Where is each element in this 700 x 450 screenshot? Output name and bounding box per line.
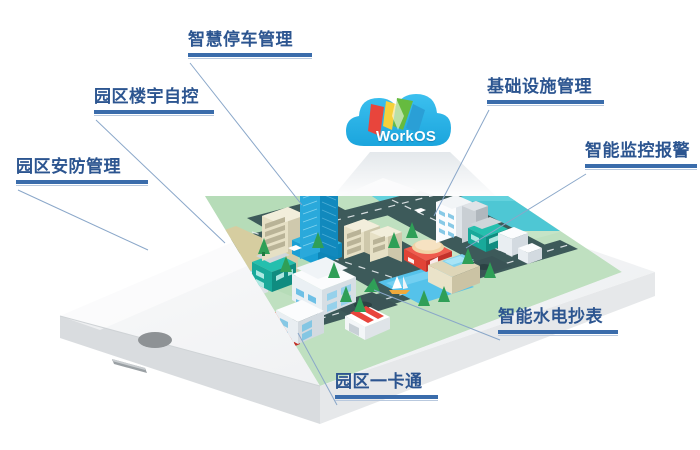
callout-underline-secondary xyxy=(585,169,697,170)
callout-underline xyxy=(16,180,148,184)
home-button-icon[interactable] xyxy=(138,332,172,348)
callout-underline-secondary xyxy=(498,335,618,336)
callout-building-automation[interactable]: 园区楼宇自控 xyxy=(94,87,214,116)
callout-label: 智能水电抄表 xyxy=(498,307,618,327)
callout-underline xyxy=(335,395,438,399)
connector-park-security xyxy=(18,190,148,250)
callout-underline xyxy=(188,53,312,57)
callout-label: 园区安防管理 xyxy=(16,157,148,177)
callout-underline xyxy=(487,100,604,104)
callout-park-all-in-one-card[interactable]: 园区一卡通 xyxy=(335,372,438,401)
callout-label: 智慧停车管理 xyxy=(188,30,312,50)
callout-infrastructure-management[interactable]: 基础设施管理 xyxy=(487,77,604,106)
connector-smart-parking xyxy=(190,63,302,205)
infographic-canvas: WorkOS 园区安防管理 园区楼宇自控 智慧停车管理 基础设施管理 智能监控报… xyxy=(0,0,700,450)
callout-underline-secondary xyxy=(16,185,148,186)
blue-skyscraper xyxy=(262,166,342,266)
callout-underline xyxy=(94,110,214,114)
callout-label: 园区楼宇自控 xyxy=(94,87,214,107)
cloud-logo-text: WorkOS xyxy=(360,128,452,145)
callout-park-security-management[interactable]: 园区安防管理 xyxy=(16,157,148,186)
callout-underline-secondary xyxy=(335,400,438,401)
callout-underline-secondary xyxy=(94,115,214,116)
callout-smart-utility-metering[interactable]: 智能水电抄表 xyxy=(498,307,618,336)
callout-smart-surveillance-alarm[interactable]: 智能监控报警 xyxy=(585,141,697,170)
callout-underline-secondary xyxy=(487,105,604,106)
callout-label: 园区一卡通 xyxy=(335,372,438,392)
callout-smart-parking-management[interactable]: 智慧停车管理 xyxy=(188,30,312,59)
callout-underline xyxy=(585,164,697,168)
callout-label: 基础设施管理 xyxy=(487,77,604,97)
callout-label: 智能监控报警 xyxy=(585,141,697,161)
callout-underline xyxy=(498,330,618,334)
callout-underline-secondary xyxy=(188,58,312,59)
